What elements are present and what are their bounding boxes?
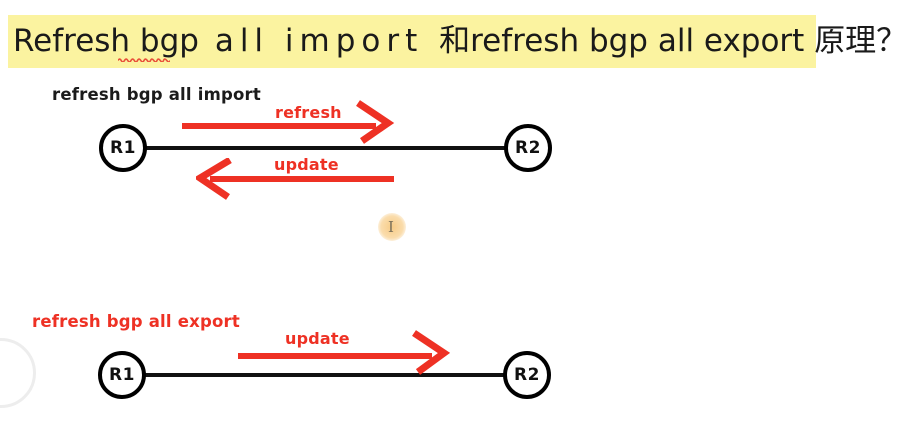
import-refresh-arrow-label: refresh [275, 103, 342, 122]
import-update-arrow-label: update [274, 155, 339, 174]
title-segment-1: Refresh [13, 23, 140, 59]
title-segment-3: 和refresh bgp all export [439, 23, 814, 59]
corner-arc-decoration [0, 338, 36, 408]
title-segment-2: all import [199, 23, 439, 59]
export-node-r2-label: R2 [503, 351, 551, 399]
import-node-r2-label: R2 [504, 124, 552, 172]
export-update-arrow-label: update [285, 329, 350, 348]
slide-canvas: Refresh bgp all import 和refresh bgp all … [0, 0, 904, 448]
import-node-r1-label: R1 [99, 124, 147, 172]
text-ibeam-cursor: I [388, 220, 394, 235]
spellcheck-squiggle-icon [118, 57, 170, 62]
export-command-label: refresh bgp all export [32, 312, 240, 331]
title-segment-4: 原理？ [814, 23, 904, 59]
import-link-line [146, 146, 506, 150]
title-misspelled-word: bgp [140, 23, 199, 59]
export-node-r1-label: R1 [98, 351, 146, 399]
